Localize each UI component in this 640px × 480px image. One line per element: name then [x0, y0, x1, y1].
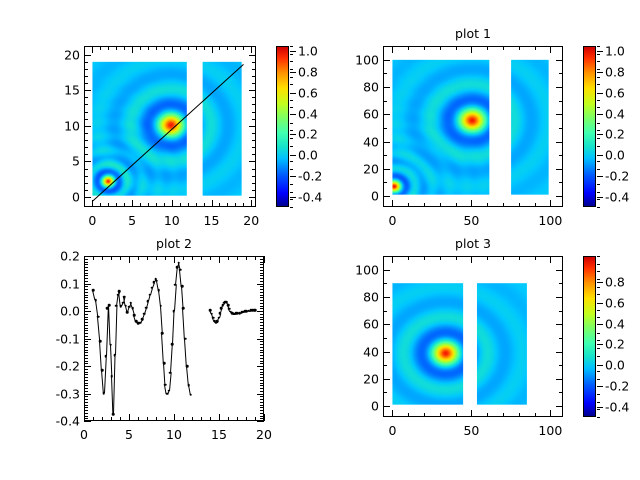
y-tick-right [559, 392, 563, 393]
panel-plot3: 050100020406080100plot 3-0.4-0.20.00.20.… [0, 0, 640, 480]
y-tick-label: 0 [345, 399, 379, 414]
colorbar-minor-tick [597, 271, 600, 272]
colorbar-tick-label: -0.2 [605, 378, 629, 393]
colorbar-minor-tick [597, 379, 600, 380]
y-tick-right [559, 283, 563, 284]
colorbar-minor-tick [597, 348, 600, 349]
y-tick-label: 100 [345, 262, 379, 277]
y-tick-right [559, 338, 563, 339]
y-tick [383, 392, 387, 393]
colorbar-tick-label: 0.2 [605, 337, 625, 352]
x-tick-top [519, 256, 520, 260]
heatmap-image-plot3 [384, 257, 562, 416]
colorbar-tick [597, 386, 603, 387]
y-tick-right [556, 324, 563, 325]
colorbar-tick [597, 365, 603, 366]
x-tick [550, 410, 551, 417]
x-tick [440, 413, 441, 417]
y-tick [383, 324, 390, 325]
colorbar-minor-tick [597, 394, 600, 395]
y-tick [383, 270, 390, 271]
y-tick [383, 311, 387, 312]
y-tick-right [559, 311, 563, 312]
colorbar-tick-label: 0.6 [605, 295, 625, 310]
colorbar-minor-tick [597, 317, 600, 318]
colorbar-minor-tick [597, 256, 600, 257]
x-tick [456, 413, 457, 417]
x-tick-top [503, 256, 504, 260]
colorbar-minor-tick [597, 264, 600, 265]
colorbar-minor-tick [597, 356, 600, 357]
y-tick [383, 365, 387, 366]
y-tick [383, 352, 390, 353]
colorbar-minor-tick [597, 402, 600, 403]
y-tick-right [559, 365, 563, 366]
colorbar-tick [597, 324, 603, 325]
x-tick-top [471, 256, 472, 263]
colorbar-minor-tick [597, 371, 600, 372]
plot-title: plot 3 [383, 236, 563, 251]
colorbar-tick-label: 0.8 [605, 274, 625, 289]
colorbar-minor-tick [597, 409, 600, 410]
y-tick-right [556, 352, 563, 353]
x-tick-label: 0 [388, 423, 396, 438]
colorbar-minor-tick [597, 417, 600, 418]
x-tick-label: 50 [463, 423, 479, 438]
colorbar-minor-tick [597, 279, 600, 280]
x-tick-label: 100 [538, 423, 562, 438]
x-tick-top [535, 256, 536, 260]
colorbar-tick [597, 303, 603, 304]
y-tick-right [556, 270, 563, 271]
colorbar-minor-tick [597, 333, 600, 334]
y-tick-label: 40 [345, 344, 379, 359]
y-tick [383, 338, 387, 339]
y-tick [383, 283, 387, 284]
colorbar-tick-label: 0.4 [605, 316, 625, 331]
x-tick [408, 413, 409, 417]
x-tick-top [408, 256, 409, 260]
x-tick [392, 410, 393, 417]
x-tick-top [487, 256, 488, 260]
colorbar-tick [597, 282, 603, 283]
colorbar-tick-label: 0.0 [605, 358, 625, 373]
x-tick [424, 413, 425, 417]
y-tick-label: 80 [345, 289, 379, 304]
colorbar-minor-tick [597, 340, 600, 341]
x-tick [503, 413, 504, 417]
x-tick-top [550, 256, 551, 263]
y-tick-label: 60 [345, 317, 379, 332]
y-tick-right [556, 379, 563, 380]
x-tick-top [440, 256, 441, 260]
colorbar-minor-tick [597, 294, 600, 295]
x-tick [519, 413, 520, 417]
x-tick-top [424, 256, 425, 260]
figure-canvas: 0510152005101520-0.4-0.20.00.20.40.60.81… [0, 0, 640, 480]
y-tick-right [556, 406, 563, 407]
y-tick [383, 297, 390, 298]
y-tick [383, 406, 390, 407]
y-tick-right [556, 297, 563, 298]
x-tick-top [456, 256, 457, 260]
colorbar-plot3 [583, 256, 596, 417]
x-tick-top [392, 256, 393, 263]
colorbar-tick-label: -0.4 [605, 399, 629, 414]
x-tick [535, 413, 536, 417]
colorbar-tick [597, 407, 603, 408]
colorbar-tick [597, 344, 603, 345]
y-tick [383, 379, 390, 380]
x-tick [487, 413, 488, 417]
x-tick [471, 410, 472, 417]
colorbar-minor-tick [597, 287, 600, 288]
colorbar-minor-tick [597, 310, 600, 311]
y-tick-label: 20 [345, 371, 379, 386]
